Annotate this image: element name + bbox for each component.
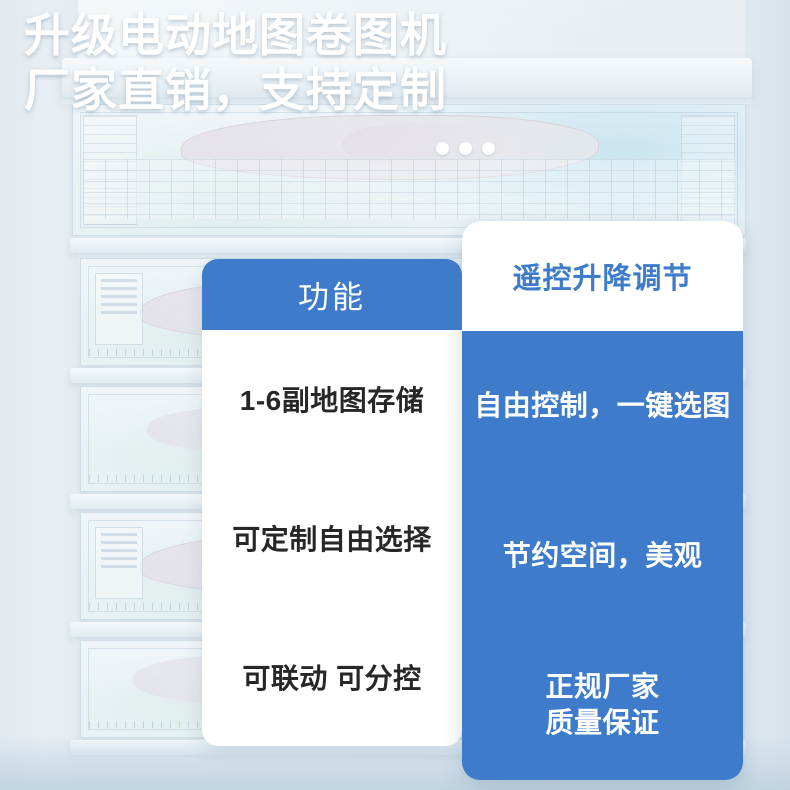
feature-row-label: 节约空间，美观 [503,538,703,574]
headline-line-2: 厂家直销，支持定制 [24,63,544,118]
poster-canvas: 升级电动地图卷图机 厂家直销，支持定制 功能 1-6副地图存储 可定制自由选择 … [0,0,790,790]
feature-row-label: 正规厂家 质量保证 [545,669,659,741]
feature-card-right-body: 自由控制，一键选图 节约空间，美观 正规厂家 质量保证 [462,331,743,780]
three-dots-icon [436,142,498,156]
feature-row: 正规厂家 质量保证 [462,630,743,780]
feature-row: 节约空间，美观 [462,481,743,631]
feature-card-left-title: 功能 [298,272,366,317]
dot-1 [436,142,449,155]
feature-card-left-header: 功能 [202,259,462,330]
feature-row-label: 可联动 可分控 [242,657,421,697]
feature-row: 可联动 可分控 [202,607,462,746]
headline-line-1: 升级电动地图卷图机 [24,8,544,63]
feature-row-label: 1-6副地图存储 [240,379,424,419]
feature-row: 可定制自由选择 [202,469,462,608]
feature-card-right-title: 遥控升降调节 [512,255,692,297]
feature-card-left: 功能 1-6副地图存储 可定制自由选择 可联动 可分控 [202,259,462,746]
feature-row: 自由控制，一键选图 [462,331,743,481]
feature-card-left-body: 1-6副地图存储 可定制自由选择 可联动 可分控 [202,330,462,746]
feature-card-right: 遥控升降调节 自由控制，一键选图 节约空间，美观 正规厂家 质量保证 [462,221,743,780]
headline: 升级电动地图卷图机 厂家直销，支持定制 [24,8,544,118]
dot-3 [482,142,495,155]
feature-card-right-header: 遥控升降调节 [462,221,743,331]
feature-row: 1-6副地图存储 [202,330,462,469]
dot-2 [459,142,472,155]
feature-row-label: 自由控制，一键选图 [474,388,731,424]
feature-row-label: 可定制自由选择 [232,518,432,558]
